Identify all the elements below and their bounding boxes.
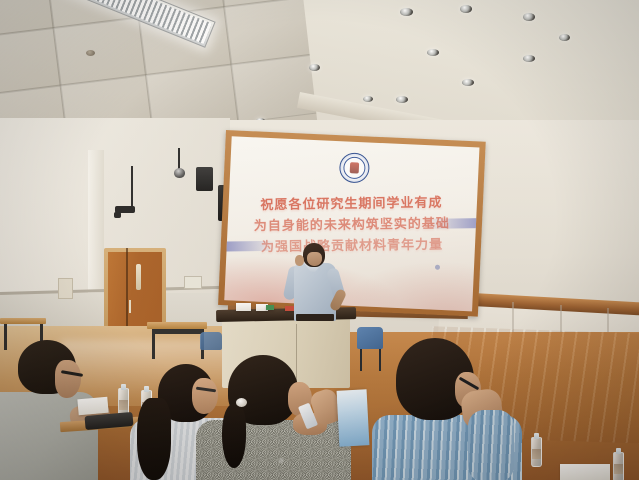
wall-mounted-box <box>184 276 202 289</box>
hair-clip-icon <box>236 398 247 407</box>
lecture-hall-photograph: 祝愿各位研究生期间学业有成 为自身能的未来构筑坚实的基础 为强国战略贡献材料青年… <box>0 0 639 480</box>
classroom-chair[interactable] <box>200 332 222 350</box>
bottle-label <box>614 464 623 474</box>
water-bottle <box>613 452 624 480</box>
desk-shelf <box>152 329 202 334</box>
dome-camera-icon <box>174 168 185 178</box>
projection-screen: 祝愿各位研究生期间学业有成 为自身能的未来构筑坚实的基础 为强国战略贡献材料青年… <box>218 130 486 317</box>
downlight-icon <box>462 79 474 86</box>
bottle-label <box>119 400 128 410</box>
downlight-icon <box>427 49 439 56</box>
downlight-icon <box>396 96 408 103</box>
person-torso <box>196 420 351 480</box>
slide-background-wash <box>337 256 479 311</box>
projected-slide: 祝愿各位研究生期间学业有成 为自身能的未来构筑坚实的基础 为强国战略贡献材料青年… <box>224 136 479 311</box>
downlight-icon <box>523 13 535 21</box>
paper-sheet <box>236 303 251 311</box>
presenter-hand <box>295 255 304 266</box>
blue-booklet[interactable] <box>337 389 370 446</box>
wall-notice-plate <box>58 278 73 299</box>
slide-text-block: 祝愿各位研究生期间学业有成 为自身能的未来构筑坚实的基础 为强国战略贡献材料青年… <box>227 192 476 258</box>
person-ponytail <box>222 404 246 468</box>
paper-sheet <box>77 397 108 416</box>
dome-camera-mount <box>178 148 180 170</box>
downlight-icon <box>309 64 320 71</box>
presenter-belt <box>296 314 334 321</box>
slide-line-3: 为强国战略贡献材料青年力量 <box>228 234 476 258</box>
door-handle-icon[interactable] <box>129 300 131 313</box>
presenter-face <box>307 252 322 266</box>
green-item <box>266 305 274 310</box>
lectern-panel-seam <box>296 324 297 384</box>
classroom-chair[interactable] <box>357 327 383 349</box>
downlight-icon <box>363 96 373 102</box>
university-seal-emblem-icon <box>339 152 370 183</box>
camera-mount-rod <box>131 166 133 210</box>
person-hair-strand <box>137 398 171 480</box>
downlight-icon <box>400 8 413 16</box>
water-bottle <box>531 437 542 467</box>
desk-leg <box>4 324 7 350</box>
smoke-detector-icon <box>86 50 95 56</box>
door-vision-panel <box>136 264 141 290</box>
downlight-icon <box>460 5 472 13</box>
classroom-desk <box>147 322 207 329</box>
downlight-icon <box>559 34 570 41</box>
wall-speaker-icon <box>196 167 213 191</box>
bottle-label <box>532 449 541 459</box>
person-arm <box>468 410 514 480</box>
wall-camera-icon <box>114 212 121 218</box>
chair-leg <box>379 349 381 371</box>
presenter-head <box>303 243 325 267</box>
emblem-center-mark <box>350 162 359 173</box>
downlight-icon <box>523 55 535 62</box>
chair-leg <box>360 349 362 371</box>
paper-sheet <box>560 464 610 480</box>
